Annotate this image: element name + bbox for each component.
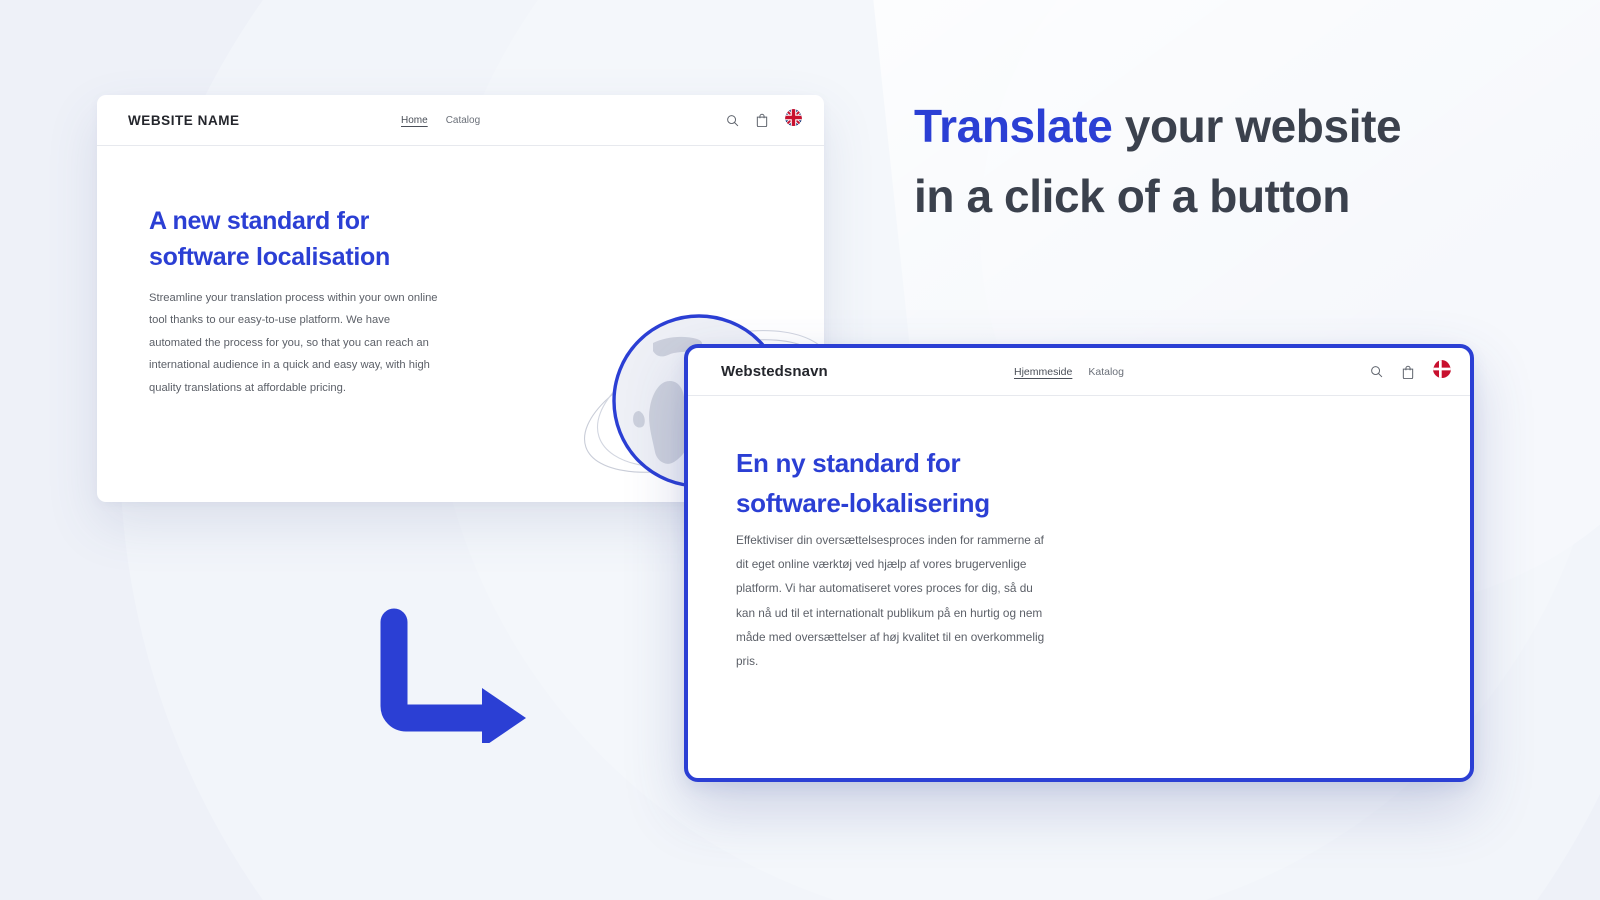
promo-banner: Translate your website in a click of a b… [0,0,1600,900]
bag-icon[interactable] [1402,365,1414,379]
site-nav-english: Home Catalog [401,115,480,126]
search-icon[interactable] [1370,365,1383,378]
headline-line1-rest: your website [1112,100,1401,152]
hero-body-danish: Effektiviser din oversættelsesproces ind… [736,528,1046,673]
site-header-english: WEBSITE NAME Home Catalog [97,95,824,146]
site-header-icons-english [726,109,802,131]
nav-link-catalog[interactable]: Catalog [446,115,480,126]
nav-link-katalog[interactable]: Katalog [1088,366,1124,378]
flag-uk-icon[interactable] [785,109,802,131]
hero-heading-line1-en: A new standard for [149,207,369,235]
hero-heading-line1-da: En ny standard for [736,448,960,478]
hero-heading-english: A new standard for software localisation [149,203,449,276]
headline-line2: in a click of a button [914,170,1350,222]
nav-link-home[interactable]: Home [401,115,428,126]
flag-dk-icon[interactable] [1433,360,1451,383]
search-icon[interactable] [726,114,739,127]
site-nav-danish: Hjemmeside Katalog [1014,366,1124,378]
website-preview-danish: Webstedsnavn Hjemmeside Katalog [684,344,1474,782]
promo-headline: Translate your website in a click of a b… [914,92,1554,232]
headline-accent-word: Translate [914,100,1112,152]
hero-heading-danish: En ny standard for software-lokalisering [736,444,1066,523]
site-header-danish: Webstedsnavn Hjemmeside Katalog [688,348,1470,396]
nav-link-hjemmeside[interactable]: Hjemmeside [1014,366,1072,378]
hero-heading-line2-da: software-lokalisering [736,488,990,518]
site-header-icons-danish [1370,360,1451,383]
hero-body-english: Streamline your translation process with… [149,287,439,399]
l-shaped-arrow-icon [378,608,538,743]
bag-icon[interactable] [756,113,768,127]
hero-heading-line2-en: software localisation [149,243,390,271]
site-brand-danish: Webstedsnavn [721,363,828,380]
site-brand-english: WEBSITE NAME [128,113,240,128]
